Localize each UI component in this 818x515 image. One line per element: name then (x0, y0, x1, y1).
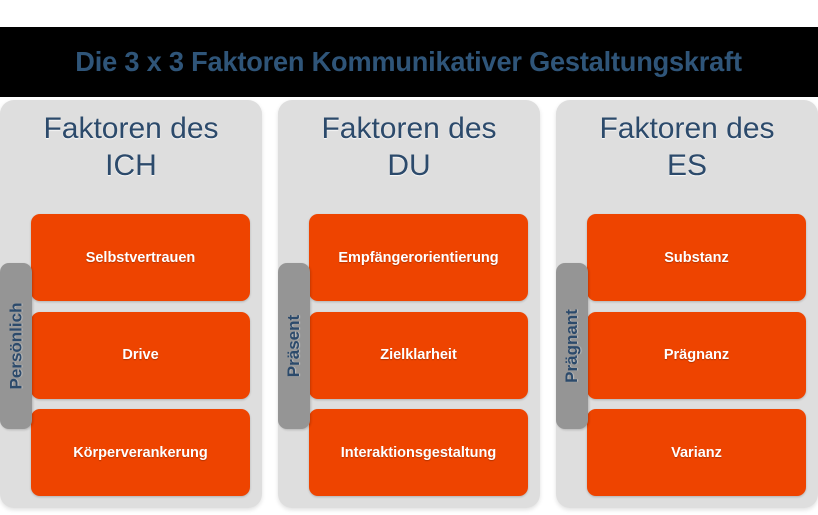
page-title: Die 3 x 3 Faktoren Kommunikativer Gestal… (76, 46, 742, 78)
factor-box[interactable]: Zielklarheit (309, 312, 528, 399)
panel-es-header-line2: ES (556, 147, 818, 184)
panel-du: Faktoren des DU Präsent Empfängerorienti… (278, 100, 540, 508)
panel-ich-header-line1: Faktoren des (0, 110, 262, 147)
panel-es-header-line1: Faktoren des (556, 110, 818, 147)
panel-du-factors: Empfängerorientierung Zielklarheit Inter… (309, 214, 528, 496)
panel-ich-header-line2: ICH (0, 147, 262, 184)
side-tab-praegnant[interactable]: Prägnant (556, 263, 588, 429)
panel-ich-header: Faktoren des ICH (0, 110, 262, 184)
side-tab-praesent-label: Präsent (284, 315, 304, 377)
panel-ich-factors: Selbstvertrauen Drive Körperverankerung (31, 214, 250, 496)
panels-container: Faktoren des ICH Persönlich Selbstvertra… (0, 100, 818, 510)
side-tab-praegnant-label: Prägnant (562, 309, 582, 383)
panel-du-header-line2: DU (278, 147, 540, 184)
side-tab-persoenlich[interactable]: Persönlich (0, 263, 32, 429)
factor-box[interactable]: Substanz (587, 214, 806, 301)
factor-box[interactable]: Prägnanz (587, 312, 806, 399)
side-tab-praesent[interactable]: Präsent (278, 263, 310, 429)
side-tab-persoenlich-label: Persönlich (6, 303, 26, 390)
panel-ich: Faktoren des ICH Persönlich Selbstvertra… (0, 100, 262, 508)
panel-du-header-line1: Faktoren des (278, 110, 540, 147)
factor-box[interactable]: Varianz (587, 409, 806, 496)
panel-es-factors: Substanz Prägnanz Varianz (587, 214, 806, 496)
panel-es-header: Faktoren des ES (556, 110, 818, 184)
title-banner: Die 3 x 3 Faktoren Kommunikativer Gestal… (0, 27, 818, 97)
factor-box[interactable]: Körperverankerung (31, 409, 250, 496)
factor-box[interactable]: Selbstvertrauen (31, 214, 250, 301)
panel-du-header: Faktoren des DU (278, 110, 540, 184)
factor-box[interactable]: Interaktionsgestaltung (309, 409, 528, 496)
panel-es: Faktoren des ES Prägnant Substanz Prägna… (556, 100, 818, 508)
factor-box[interactable]: Empfängerorientierung (309, 214, 528, 301)
factor-box[interactable]: Drive (31, 312, 250, 399)
